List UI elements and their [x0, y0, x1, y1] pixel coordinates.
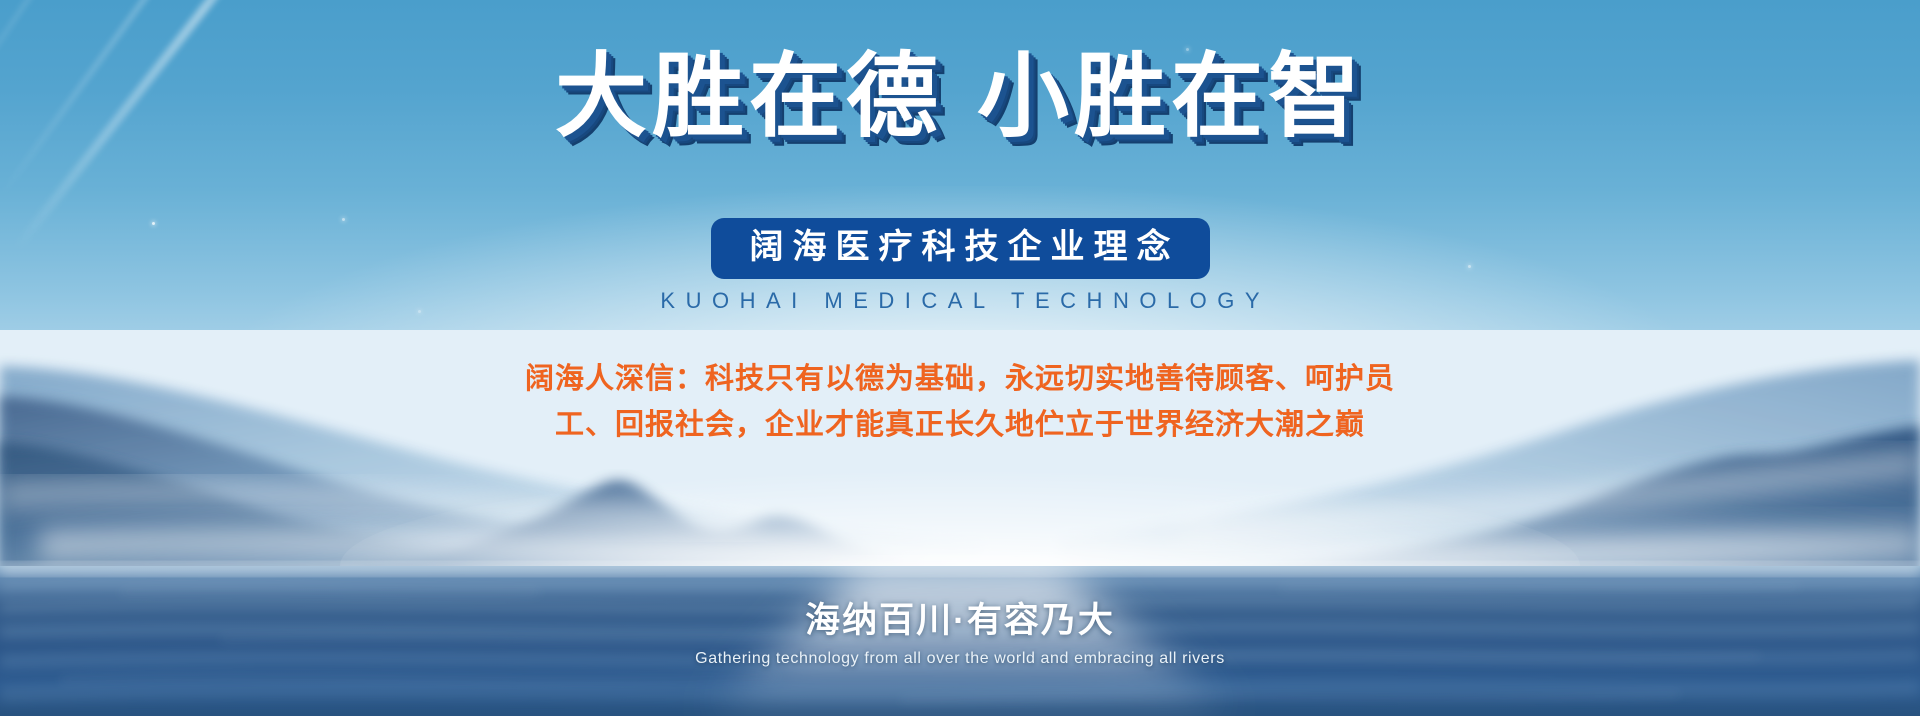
english-subtitle: KUOHAI MEDICAL TECHNOLOGY — [0, 288, 1920, 314]
main-title-right: 小胜在智 — [977, 46, 1365, 148]
main-title-left: 大胜在德 — [555, 46, 943, 148]
kuohai-medical-banner: 大胜在德小胜在智 阔海医疗科技企业理念 KUOHAI MEDICAL TECHN… — [0, 0, 1920, 716]
status-badge: 阔海医疗科技企业理念 — [711, 218, 1210, 279]
statement-line-1: 阔海人深信：科技只有以德为基础，永远切实地善待顾客、呵护员 — [0, 356, 1920, 402]
footer-slogan-en: Gathering technology from all over the w… — [0, 650, 1920, 668]
horizon-line — [0, 562, 1920, 576]
page-title: 大胜在德小胜在智 — [0, 46, 1920, 149]
footer-slogan-cn: 海纳百川·有容乃大 — [0, 592, 1920, 643]
badge-container: 阔海医疗科技企业理念 — [0, 218, 1920, 279]
statement-line-2: 工、回报社会，企业才能真正长久地伫立于世界经济大潮之巅 — [0, 402, 1920, 448]
company-statement: 阔海人深信：科技只有以德为基础，永远切实地善待顾客、呵护员 工、回报社会，企业才… — [0, 356, 1920, 448]
